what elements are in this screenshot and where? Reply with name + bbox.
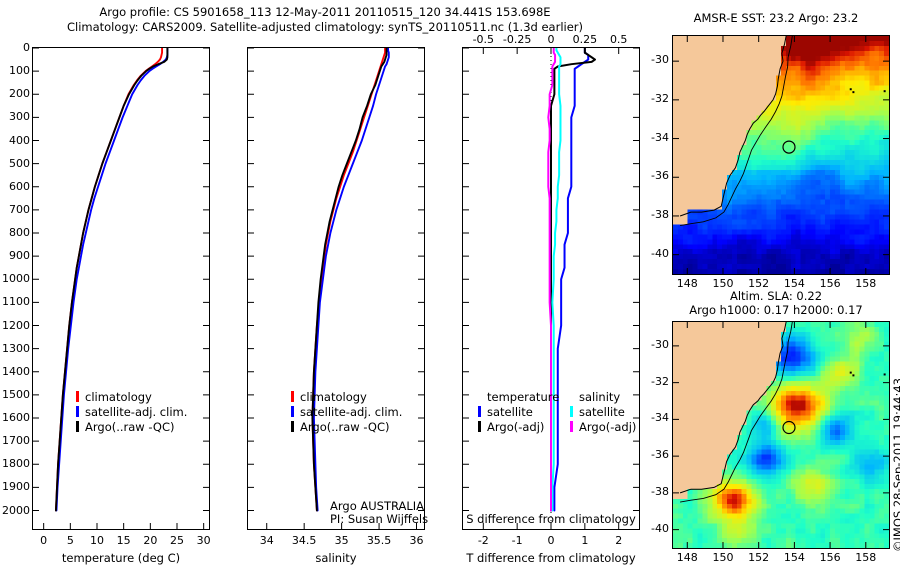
lat-tick--34: -34	[637, 131, 669, 144]
legend-label: Argo(-adj)	[579, 420, 636, 434]
lon-tick-148: 148	[667, 277, 707, 290]
legend-heading: salinity	[579, 390, 620, 404]
sla-map-axes[interactable]	[672, 321, 890, 549]
legend-swatch-argo---raw--qc-	[76, 421, 79, 432]
depth-tick-1900: 1900	[0, 480, 30, 493]
lat-tick--38: -38	[637, 208, 669, 221]
lat-tick--32: -32	[637, 92, 669, 105]
imos-credit: ©IMOS 28-Sep-2011 19:44:43	[891, 378, 900, 552]
tdiff-tick-2: 2	[595, 534, 643, 547]
depth-tick-300: 300	[0, 110, 30, 123]
lat-tick--36: -36	[637, 169, 669, 182]
legend-swatch	[570, 421, 573, 432]
depth-tick-600: 600	[0, 180, 30, 193]
lon-tick-154: 154	[774, 551, 814, 564]
figure-title-line1: Argo profile: CS 5901658_113 12-May-2011…	[0, 6, 650, 19]
legend-swatch	[291, 406, 294, 417]
lon-tick-152: 152	[739, 551, 779, 564]
sal-tick-36: 36	[393, 534, 441, 547]
legend-swatch-climatology	[76, 391, 79, 402]
legend-label: satellite	[487, 405, 533, 419]
depth-tick-2000: 2000	[0, 504, 30, 517]
legend-swatch	[291, 421, 294, 432]
t-difference-axis-label: T difference from climatology	[462, 552, 640, 565]
depth-tick-800: 800	[0, 226, 30, 239]
lat-tick--32: -32	[637, 375, 669, 388]
temp-tick-30: 30	[180, 534, 228, 547]
lat-tick--34: -34	[637, 411, 669, 424]
sla-map-title-line2: Argo h1000: 0.17 h2000: 0.17	[660, 304, 892, 317]
legend-swatch-satellite-adj--clim-	[76, 406, 79, 417]
depth-tick-1600: 1600	[0, 411, 30, 424]
lon-tick-158: 158	[846, 277, 886, 290]
temperature-profile-axes	[32, 47, 210, 530]
legend-label: satellite	[579, 405, 625, 419]
depth-tick-1800: 1800	[0, 457, 30, 470]
legend-label: satellite-adj. clim.	[85, 405, 187, 419]
legend-label: Argo(..raw -QC)	[300, 420, 390, 434]
difference-profile-axes	[462, 47, 640, 530]
lon-tick-158: 158	[846, 551, 886, 564]
lon-tick-156: 156	[810, 551, 850, 564]
depth-tick-900: 900	[0, 249, 30, 262]
depth-tick-200: 200	[0, 87, 30, 100]
attribution-line2: PI: Susan Wijffels	[330, 513, 428, 526]
legend-swatch	[478, 421, 481, 432]
depth-tick-1700: 1700	[0, 434, 30, 447]
lat-tick--30: -30	[637, 53, 669, 66]
temperature-axis-label: temperature (deg C)	[32, 552, 210, 565]
figure-canvas: Argo profile: CS 5901658_113 12-May-2011…	[0, 0, 900, 580]
depth-tick-1100: 1100	[0, 295, 30, 308]
depth-tick-1200: 1200	[0, 319, 30, 332]
legend-label: Argo(..raw -QC)	[85, 420, 175, 434]
legend-swatch	[291, 391, 294, 402]
depth-tick-700: 700	[0, 203, 30, 216]
lat-tick--38: -38	[637, 485, 669, 498]
depth-tick-1400: 1400	[0, 365, 30, 378]
depth-tick-1000: 1000	[0, 272, 30, 285]
legend-label: climatology	[300, 390, 367, 404]
depth-tick-1500: 1500	[0, 388, 30, 401]
depth-tick-500: 500	[0, 157, 30, 170]
lat-tick--36: -36	[637, 448, 669, 461]
legend-heading: temperature	[487, 390, 559, 404]
sla-map-title-line1: Altim. SLA: 0.22	[660, 290, 892, 303]
legend-label: satellite-adj. clim.	[300, 405, 402, 419]
lat-tick--40: -40	[637, 522, 669, 535]
sdiff-tick-0.5: 0.5	[595, 33, 643, 46]
s-difference-axis-label: S difference from climatology	[462, 513, 640, 526]
depth-tick-400: 400	[0, 134, 30, 147]
legend-swatch	[570, 406, 573, 417]
depth-tick-100: 100	[0, 64, 30, 77]
sst-map-axes[interactable]	[672, 35, 890, 275]
depth-tick-1300: 1300	[0, 342, 30, 355]
salinity-axis-label: salinity	[247, 552, 425, 565]
legend-label: climatology	[85, 390, 152, 404]
legend-swatch	[478, 406, 481, 417]
depth-tick-0: 0	[0, 41, 30, 54]
lat-tick--30: -30	[637, 338, 669, 351]
lon-tick-148: 148	[667, 551, 707, 564]
salinity-profile-axes	[247, 47, 425, 530]
legend-label: Argo(-adj)	[487, 420, 544, 434]
sst-map-title: AMSR-E SST: 23.2 Argo: 23.2	[660, 12, 892, 25]
lon-tick-150: 150	[703, 551, 743, 564]
lat-tick--40: -40	[637, 247, 669, 260]
